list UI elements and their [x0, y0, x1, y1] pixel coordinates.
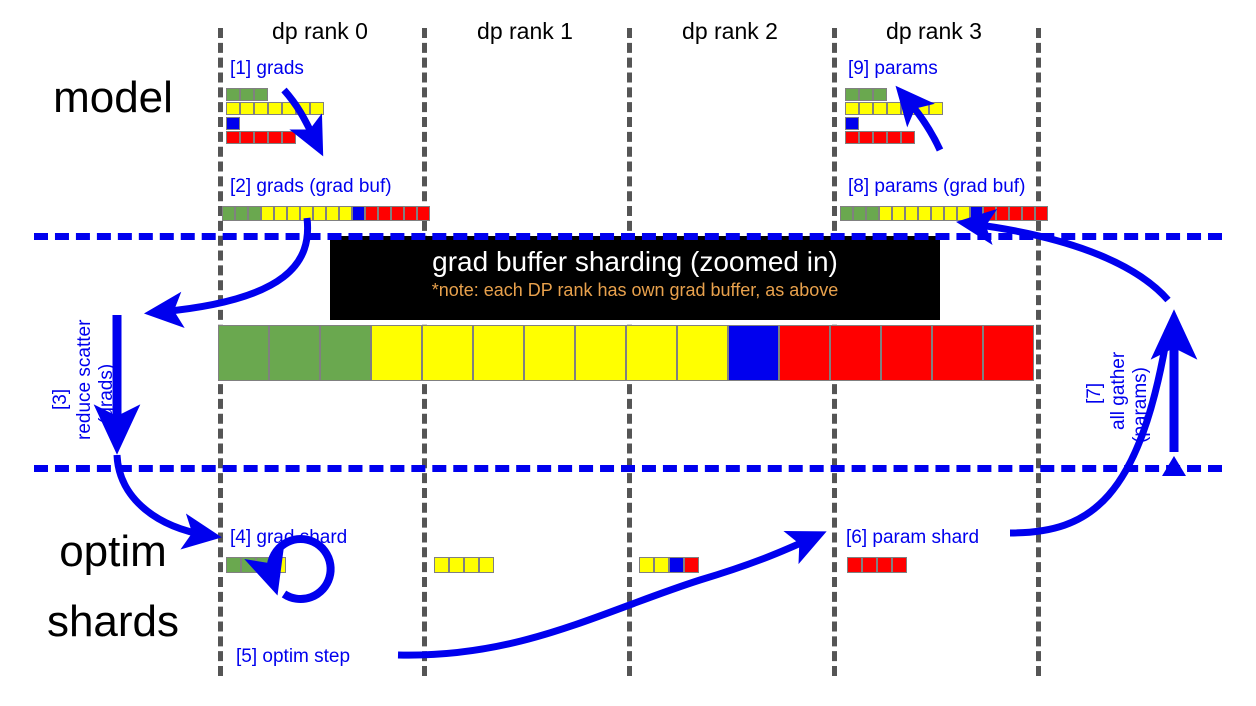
- step-7-label-op: all gather: [1108, 352, 1130, 430]
- diagram-canvas: dp rank 0 dp rank 1 dp rank 2 dp rank 3 …: [0, 0, 1256, 706]
- step-3-label-arg: (grads): [96, 364, 118, 424]
- rank-header-2: dp rank 2: [628, 18, 832, 45]
- step-5-label: [5] optim step: [236, 646, 350, 668]
- step-9-label: [9] params: [848, 58, 938, 80]
- rank-separator-4: [1036, 28, 1041, 676]
- section-label-shards: shards: [18, 600, 208, 645]
- shard-rank0: [226, 557, 286, 573]
- rank-header-3: dp rank 3: [832, 18, 1036, 45]
- grad-buffer-rank0: [222, 206, 430, 221]
- params-row-blue: [845, 117, 859, 130]
- shard-rank1: [434, 557, 494, 573]
- grad-buffer-zoomed-bar: [218, 325, 1036, 381]
- divider-zoom-optim: [34, 465, 1222, 472]
- grad-buffer-rank3: [840, 206, 1048, 221]
- params-row-green: [845, 88, 887, 101]
- grads-row-green: [226, 88, 268, 101]
- step-1-label: [1] grads: [230, 58, 304, 80]
- step-3-label-op: reduce scatter: [74, 320, 96, 440]
- banner-title: grad buffer sharding (zoomed in): [330, 246, 940, 278]
- step-6-label: [6] param shard: [846, 527, 979, 549]
- rank-header-1: dp rank 1: [423, 18, 627, 45]
- banner-note: *note: each DP rank has own grad buffer,…: [330, 280, 940, 302]
- shard-rank3: [847, 557, 907, 573]
- grads-row-yellow: [226, 102, 324, 115]
- shard-rank2: [639, 557, 699, 573]
- section-label-optim: optim: [18, 530, 208, 575]
- step-8-label: [8] params (grad buf): [848, 176, 1025, 198]
- grads-row-blue: [226, 117, 240, 130]
- zoom-banner: grad buffer sharding (zoomed in) *note: …: [330, 236, 940, 320]
- step-3-label-num: [3]: [50, 389, 72, 410]
- rank-header-0: dp rank 0: [218, 18, 422, 45]
- step-7-label-num: [7]: [1084, 383, 1106, 404]
- section-label-model: model: [18, 76, 208, 121]
- grads-row-red: [226, 131, 296, 144]
- divider-model-zoom: [34, 233, 1222, 240]
- arrow-optim-to-param-shard: [398, 538, 812, 655]
- params-row-red: [845, 131, 915, 144]
- step-4-label: [4] grad shard: [230, 527, 347, 549]
- params-row-yellow: [845, 102, 943, 115]
- step-2-label: [2] grads (grad buf): [230, 176, 392, 198]
- step-7-label-arg: (params): [1130, 367, 1152, 443]
